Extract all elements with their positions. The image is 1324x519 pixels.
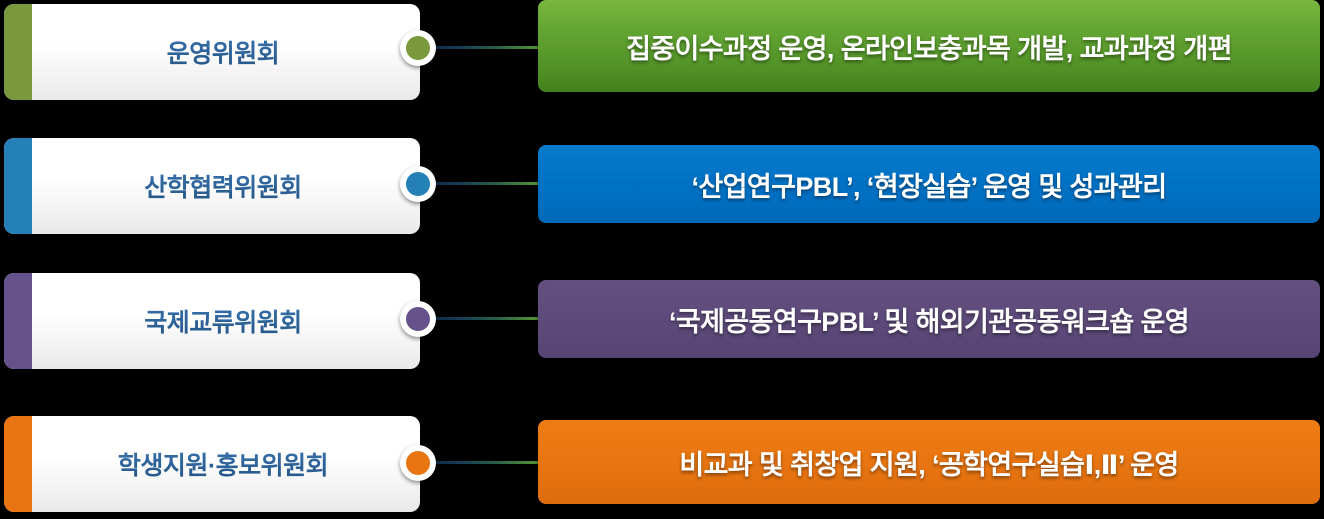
committee-name-label: 학생지원·홍보위원회 — [32, 416, 420, 512]
diagram-row: 산학협력위원회 ‘산업연구PBL’, ‘현장실습’ 운영 및 성과관리 — [0, 134, 1324, 244]
connector-dot-inner — [406, 36, 430, 60]
connector-line — [424, 317, 542, 320]
connector-dot — [400, 30, 436, 66]
committee-name-label: 국제교류위원회 — [32, 273, 420, 369]
committee-card-accent-bar — [4, 416, 32, 512]
committee-card-accent-bar — [4, 138, 32, 234]
committee-card-accent-bar — [4, 273, 32, 369]
diagram-row: 운영위원회 집중이수과정 운영, 온라인보충과목 개발, 교과과정 개편 — [0, 0, 1324, 110]
connector-dot-inner — [406, 307, 430, 331]
committee-card[interactable]: 국제교류위원회 — [4, 273, 420, 369]
committee-task-label: ‘산업연구PBL’, ‘현장실습’ 운영 및 성과관리 — [692, 165, 1167, 204]
connector-dot — [400, 301, 436, 337]
committee-task-label: 비교과 및 취창업 지원, ‘공학연구실습Ⅰ,Ⅱ’ 운영 — [679, 443, 1178, 482]
committee-name-label: 산학협력위원회 — [32, 138, 420, 234]
committee-task-banner[interactable]: ‘국제공동연구PBL’ 및 해외기관공동워크숍 운영 — [538, 280, 1320, 358]
committee-task-banner[interactable]: ‘산업연구PBL’, ‘현장실습’ 운영 및 성과관리 — [538, 145, 1320, 223]
diagram-row: 국제교류위원회 ‘국제공동연구PBL’ 및 해외기관공동워크숍 운영 — [0, 269, 1324, 379]
connector-dot — [400, 445, 436, 481]
committee-name-label: 운영위원회 — [32, 4, 420, 100]
connector-line — [424, 46, 542, 49]
committee-card[interactable]: 학생지원·홍보위원회 — [4, 416, 420, 512]
committee-card[interactable]: 운영위원회 — [4, 4, 420, 100]
committee-task-label: ‘국제공동연구PBL’ 및 해외기관공동워크숍 운영 — [669, 300, 1189, 339]
connector-dot-inner — [406, 451, 430, 475]
connector-dot-inner — [406, 172, 430, 196]
connector-dot — [400, 166, 436, 202]
connector-line — [424, 182, 542, 185]
committee-task-banner[interactable]: 비교과 및 취창업 지원, ‘공학연구실습Ⅰ,Ⅱ’ 운영 — [538, 420, 1320, 504]
committee-card[interactable]: 산학협력위원회 — [4, 138, 420, 234]
committee-structure-diagram: 운영위원회 집중이수과정 운영, 온라인보충과목 개발, 교과과정 개편 산학협… — [0, 0, 1324, 519]
committee-task-banner[interactable]: 집중이수과정 운영, 온라인보충과목 개발, 교과과정 개편 — [538, 0, 1320, 92]
diagram-row: 학생지원·홍보위원회 비교과 및 취창업 지원, ‘공학연구실습Ⅰ,Ⅱ’ 운영 — [0, 404, 1324, 519]
committee-task-label: 집중이수과정 운영, 온라인보충과목 개발, 교과과정 개편 — [626, 27, 1232, 66]
connector-line — [424, 461, 542, 464]
committee-card-accent-bar — [4, 4, 32, 100]
